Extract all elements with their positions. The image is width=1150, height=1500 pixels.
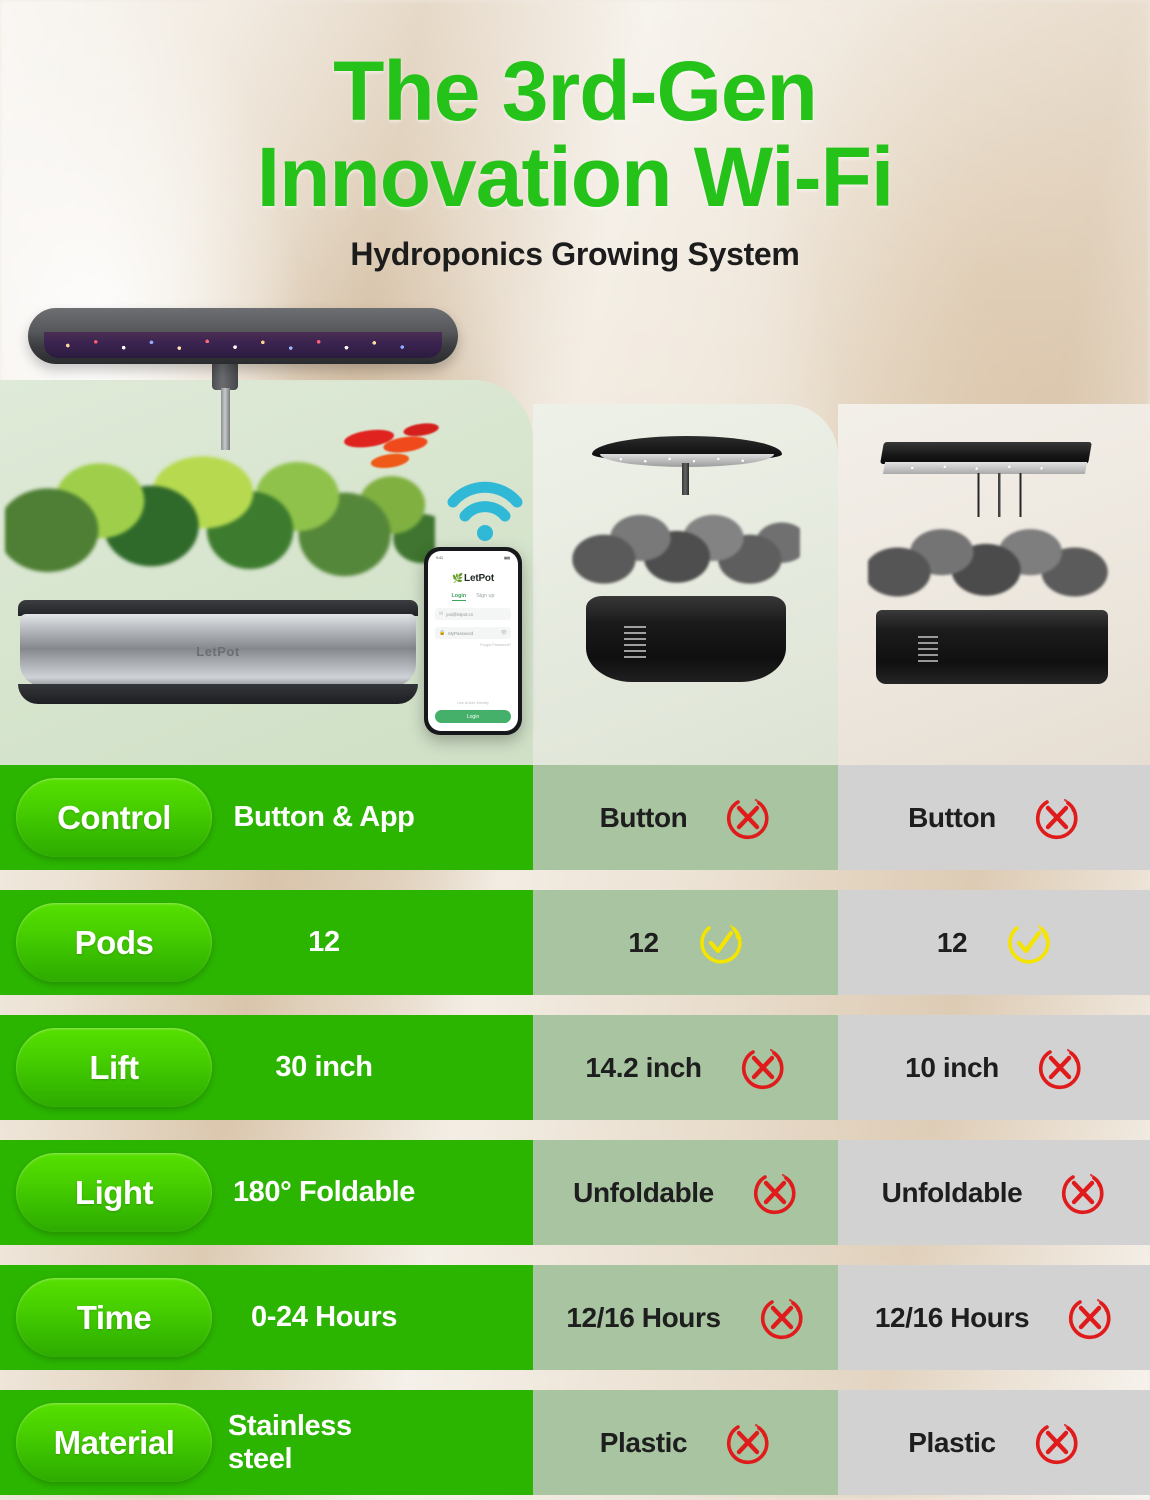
cell-competitor-a: Unfoldable — [533, 1140, 838, 1245]
feature-pill-light: Light — [16, 1153, 212, 1232]
eye-icon[interactable]: 👁 — [501, 630, 507, 636]
competitor-b-product — [862, 428, 1124, 728]
cell-competitor-a: Button — [533, 765, 838, 870]
feature-pill-material: Material — [16, 1403, 212, 1482]
cross-icon — [1034, 1420, 1080, 1466]
competitor-b-value: Plastic — [908, 1427, 995, 1459]
login-button[interactable]: Login — [435, 710, 511, 723]
feature-pill-time: Time — [16, 1278, 212, 1357]
feature-label: Time — [77, 1299, 151, 1337]
cell-letpot: Material Stainless steel — [0, 1390, 533, 1495]
cross-icon — [752, 1170, 798, 1216]
feature-pill-pods: Pods — [16, 903, 212, 982]
status-indicators: ▮▮▮ — [504, 556, 510, 560]
competitor-a-value: Unfoldable — [573, 1177, 714, 1209]
table-row: Lift 30 inch 14.2 inch 10 inch — [0, 1015, 1150, 1120]
feature-pill-lift: Lift — [16, 1028, 212, 1107]
competitor-a-value: Plastic — [600, 1427, 687, 1459]
competitor-a-value: 12 — [628, 927, 658, 959]
cell-competitor-b: Button — [838, 765, 1150, 870]
page-subtitle: Hydroponics Growing System — [0, 236, 1150, 273]
envelope-icon: ✉ — [439, 611, 443, 617]
wifi-icon — [443, 476, 527, 542]
cell-letpot: Light 180° Foldable — [0, 1140, 533, 1245]
cross-icon — [759, 1295, 805, 1341]
competitor-b-value: 12/16 Hours — [875, 1302, 1029, 1334]
letpot-value: 0-24 Hours — [228, 1265, 420, 1370]
cell-competitor-b: 10 inch — [838, 1015, 1150, 1120]
password-value: MyPassword — [448, 631, 497, 636]
feature-label: Light — [75, 1174, 153, 1212]
table-row: Light 180° Foldable Unfoldable Unfoldabl… — [0, 1140, 1150, 1245]
chili-peppers — [333, 405, 453, 498]
letpot-value: 30 inch — [228, 1015, 420, 1120]
table-row: Pods 12 12 12 — [0, 890, 1150, 995]
letpot-value: 180° Foldable — [228, 1140, 420, 1245]
competitor-b-value: Button — [908, 802, 996, 834]
cross-icon — [1034, 795, 1080, 841]
lock-icon: 🔒 — [439, 630, 445, 636]
cell-competitor-b: Plastic — [838, 1390, 1150, 1495]
letpot-brand-label: LetPot — [18, 644, 418, 659]
table-row: Time 0-24 Hours 12/16 Hours 12/16 Hours — [0, 1265, 1150, 1370]
feature-label: Control — [57, 799, 171, 837]
feature-pill-control: Control — [16, 778, 212, 857]
letpot-device-body: LetPot — [18, 600, 418, 704]
feature-label: Pods — [75, 924, 154, 962]
competitor-a-value: Button — [600, 802, 688, 834]
cell-competitor-b: 12/16 Hours — [838, 1265, 1150, 1370]
tab-signup[interactable]: Sign up — [476, 593, 494, 601]
app-name: LetPot — [464, 573, 494, 584]
table-row: Material Stainless steel Plastic Plastic — [0, 1390, 1150, 1495]
feature-label: Lift — [89, 1049, 138, 1087]
cross-icon — [740, 1045, 786, 1091]
competitor-a-value: 14.2 inch — [585, 1052, 701, 1084]
cross-icon — [725, 1420, 771, 1466]
email-value: jon@letpot.cn — [446, 612, 507, 617]
cell-letpot: Pods 12 — [0, 890, 533, 995]
phone-mockup: 9:41 ▮▮▮ 🌿LetPot Login Sign up ✉ jon@let… — [424, 547, 522, 735]
cross-icon — [1037, 1045, 1083, 1091]
cross-icon — [1067, 1295, 1113, 1341]
page-title-line-1: The 3rd-Gen — [0, 0, 1150, 134]
auth-tabs: Login Sign up — [435, 593, 511, 601]
cell-competitor-a: 12 — [533, 890, 838, 995]
feature-label: Material — [54, 1424, 175, 1462]
status-time: 9:41 — [436, 556, 443, 560]
page-header: The 3rd-Gen Innovation Wi-Fi Hydroponics… — [0, 0, 1150, 273]
table-row: Control Button & App Button Button — [0, 765, 1150, 870]
cell-competitor-a: 14.2 inch — [533, 1015, 838, 1120]
product-hero-strip: LetPot 9:41 ▮▮▮ 🌿LetPot Login Sign up ✉ — [0, 300, 1150, 770]
password-field[interactable]: 🔒 MyPassword 👁 — [435, 627, 511, 639]
competitor-b-value: Unfoldable — [882, 1177, 1023, 1209]
competitor-a-value: 12/16 Hours — [566, 1302, 720, 1334]
cell-letpot: Lift 30 inch — [0, 1015, 533, 1120]
letpot-value: Button & App — [228, 765, 420, 870]
comparison-table: Control Button & App Button Button — [0, 765, 1150, 1495]
letpot-app-screen: 9:41 ▮▮▮ 🌿LetPot Login Sign up ✉ jon@let… — [428, 551, 518, 731]
app-logo: 🌿LetPot — [435, 573, 511, 584]
check-icon — [697, 920, 743, 966]
led-light-bar-icon — [28, 308, 458, 364]
cell-letpot: Time 0-24 Hours — [0, 1265, 533, 1370]
competitor-b-value: 12 — [937, 927, 967, 959]
cell-competitor-a: Plastic — [533, 1390, 838, 1495]
page-title-line-2: Innovation Wi-Fi — [0, 134, 1150, 220]
email-field[interactable]: ✉ jon@letpot.cn — [435, 608, 511, 620]
competitor-b-value: 10 inch — [905, 1052, 999, 1084]
forgot-password-link[interactable]: Forgot Password? — [435, 643, 511, 647]
phone-status-bar: 9:41 ▮▮▮ — [435, 555, 511, 560]
cross-icon — [1060, 1170, 1106, 1216]
leaf-logo-icon: 🌿 — [452, 573, 463, 584]
letpot-value: 12 — [228, 890, 420, 995]
cross-icon — [725, 795, 771, 841]
tab-login[interactable]: Login — [452, 593, 467, 601]
friendly-note: Use Article-friendly — [428, 701, 518, 705]
cell-competitor-b: 12 — [838, 890, 1150, 995]
competitor-a-product — [560, 430, 812, 730]
cell-competitor-b: Unfoldable — [838, 1140, 1150, 1245]
check-icon — [1005, 920, 1051, 966]
cell-competitor-a: 12/16 Hours — [533, 1265, 838, 1370]
cell-letpot: Control Button & App — [0, 765, 533, 870]
letpot-value: Stainless steel — [228, 1390, 420, 1495]
